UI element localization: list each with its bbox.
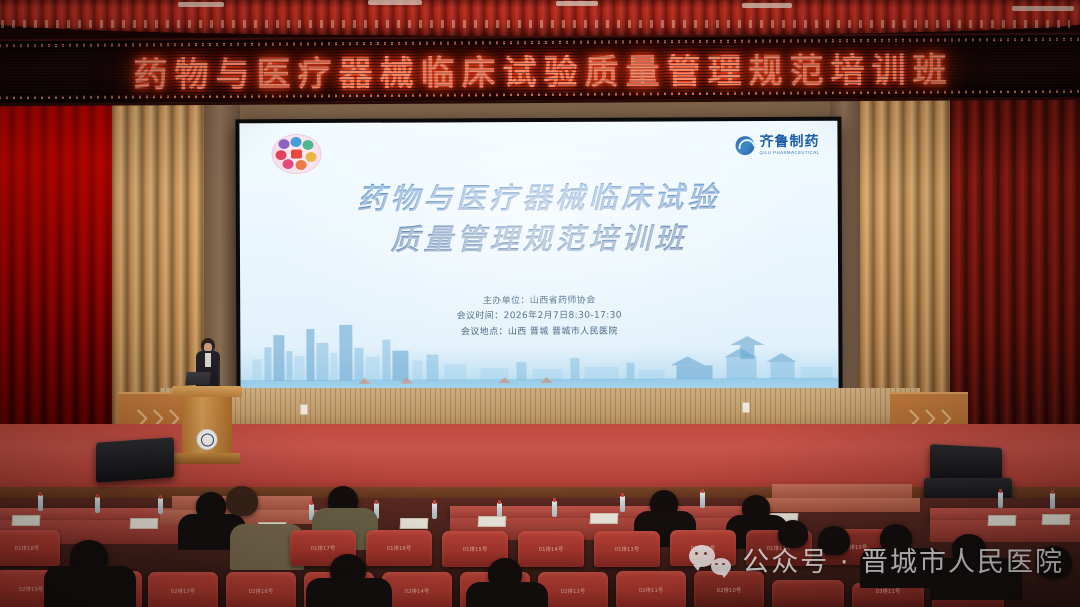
- watermark: 公众号 · 晋城市人民医院: [689, 540, 1064, 579]
- association-logo-icon: [272, 135, 320, 173]
- podium-base: [174, 453, 240, 464]
- seat-label: 01排16号: [366, 545, 432, 552]
- water-bottle: [700, 492, 705, 508]
- podium-body: [182, 397, 232, 453]
- audience-head: [226, 486, 258, 516]
- hospital-emblem-icon: [197, 429, 218, 450]
- led-banner-text: 药物与医疗器械临床试验质量管理规范培训班: [126, 42, 953, 96]
- watermark-text: 公众号 · 晋城市人民医院: [742, 540, 1064, 579]
- projection-screen: 齐鲁制药 QILU PHARMACEUTICAL 药物与医疗器械临床试验 质量管…: [235, 117, 842, 400]
- ceiling-valance: [0, 0, 1080, 36]
- slide-title-line2: 质量管理规范培训班: [240, 218, 838, 262]
- seat-label: 02排16号: [226, 588, 296, 595]
- place-namecard: [130, 518, 159, 529]
- stage-curtain-red-right: [950, 92, 1080, 477]
- seat-label: 02排11号: [616, 587, 686, 594]
- seat-label: 02排17号: [148, 588, 218, 595]
- water-bottle: [620, 496, 625, 512]
- audience-shoulders: [44, 566, 136, 607]
- seat-label: 02排12号: [538, 588, 608, 595]
- slide-title: 药物与医疗器械临床试验 质量管理规范培训班: [240, 177, 838, 262]
- place-namecard: [988, 515, 1017, 526]
- water-bottle: [998, 492, 1003, 508]
- water-bottle: [158, 498, 163, 514]
- seat-label: 02排10号: [694, 587, 764, 594]
- seat[interactable]: 02排17号: [148, 572, 218, 607]
- place-namecard: [1042, 514, 1071, 525]
- seat[interactable]: [772, 580, 844, 607]
- presentation-slide: 齐鲁制药 QILU PHARMACEUTICAL 药物与医疗器械临床试验 质量管…: [239, 121, 838, 396]
- podium-laptop: [185, 372, 210, 385]
- skyline-illustration: [240, 309, 838, 396]
- podium-microphone: [218, 360, 220, 388]
- slide-title-line1: 药物与医疗器械临床试验: [240, 177, 838, 221]
- seat[interactable]: 01排18号: [0, 530, 60, 566]
- seat-label: 01排14号: [518, 546, 584, 553]
- led-banner: 药物与医疗器械临床试验质量管理规范培训班: [0, 33, 1080, 107]
- seat[interactable]: 01排13号: [594, 531, 660, 567]
- wechat-icon: [689, 545, 731, 575]
- seat[interactable]: 01排16号: [366, 530, 432, 566]
- seat-label: 02排14号: [382, 588, 452, 595]
- water-bottle: [95, 497, 100, 513]
- seat[interactable]: 02排11号: [616, 571, 686, 607]
- seat[interactable]: 02排16号: [226, 572, 296, 607]
- water-bottle: [432, 503, 437, 519]
- audience-shoulders: [306, 578, 392, 607]
- water-bottle: [1050, 493, 1055, 509]
- audience-shoulders: [466, 582, 548, 607]
- stage-monitor-left: [96, 437, 174, 482]
- seat[interactable]: 01排14号: [518, 531, 584, 567]
- presenter-shirt: [205, 353, 211, 367]
- place-namecard: [400, 518, 429, 529]
- podium-top: [172, 386, 242, 397]
- water-bottle: [38, 495, 43, 511]
- seat[interactable]: 02排14号: [382, 572, 452, 607]
- sponsor-logo-cn: 齐鲁制药: [759, 135, 819, 149]
- place-namecard: [12, 515, 41, 526]
- seat-label: 01排15号: [442, 546, 508, 553]
- valance-lights: [0, 20, 1070, 28]
- seat-label: 01排13号: [594, 546, 660, 553]
- sponsor-logo-en: QILU PHARMACEUTICAL: [760, 151, 820, 155]
- qilu-mark-icon: [735, 136, 754, 155]
- stage-curtain-red-left: [0, 92, 116, 477]
- podium: [178, 386, 236, 464]
- water-bottle: [552, 501, 557, 517]
- place-namecard: [590, 513, 619, 524]
- seat[interactable]: 02排12号: [538, 572, 608, 607]
- stage-step-right-lower: [760, 498, 920, 512]
- place-namecard: [478, 516, 507, 527]
- auditorium-photo: 齐鲁制药 QILU PHARMACEUTICAL 药物与医疗器械临床试验 质量管…: [0, 0, 1080, 607]
- seat-label: 03排11号: [852, 588, 924, 595]
- seat-label: 01排18号: [0, 545, 60, 552]
- seat-label: 01排17号: [290, 545, 356, 552]
- sponsor-logo: 齐鲁制药 QILU PHARMACEUTICAL: [735, 135, 819, 156]
